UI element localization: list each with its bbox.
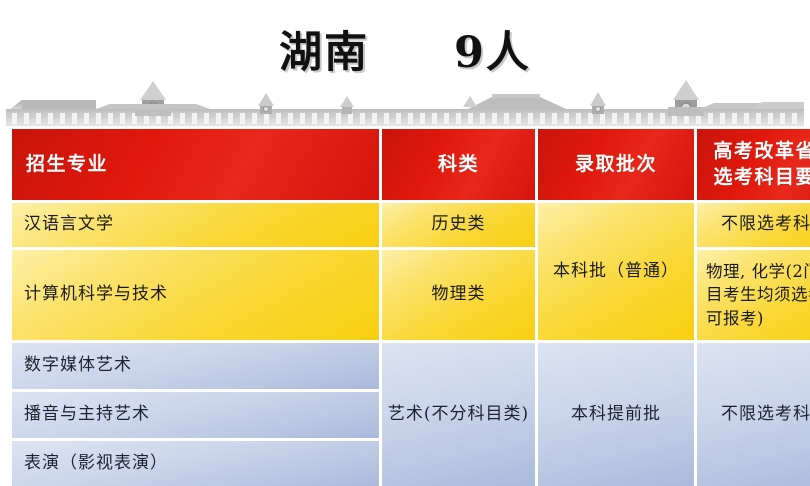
cell-category-2: 物理类 (381, 249, 536, 341)
admission-plan-table: 招生专业 科类 录取批次 高考改革省份 选考科目要求 招生计划 汉语言文学 历史… (10, 127, 810, 486)
column-header-category: 科类 (381, 128, 536, 201)
column-header-major: 招生专业 (11, 128, 380, 201)
cell-subject-requirement-2-text: 物理, 化学(2门科目考生均须选考方可报考) (697, 258, 810, 332)
column-header-subject-requirement-line2: 选考科目要求 (697, 165, 810, 190)
column-header-subject-requirement-line1: 高考改革省份 (697, 139, 810, 164)
table-row: 汉语言文学 历史类 本科批（普通） 不限选考科目 2 (11, 202, 810, 248)
cell-major-3: 数字媒体艺术 (11, 342, 380, 390)
cell-category-art: 艺术(不分科目类) (381, 342, 536, 486)
cell-batch-early-undergraduate: 本科提前批 (537, 342, 695, 486)
cell-major-2: 计算机科学与技术 (11, 249, 380, 341)
cell-subject-requirement-2: 物理, 化学(2门科目考生均须选考方可报考) (696, 249, 810, 341)
cell-subject-requirement-art: 不限选考科目 (696, 342, 810, 486)
column-header-batch: 录取批次 (537, 128, 695, 201)
column-header-subject-requirement: 高考改革省份 选考科目要求 (696, 128, 810, 201)
page-title: 湖南 9人 (0, 14, 810, 84)
campus-skyline-decoration (0, 78, 810, 128)
page-title-text: 湖南 9人 (279, 18, 531, 80)
slide-page: 湖南 9人 (0, 0, 810, 486)
cell-major-4: 播音与主持艺术 (11, 391, 380, 439)
cell-category-1: 历史类 (381, 202, 536, 248)
cell-batch-undergraduate-regular: 本科批（普通） (537, 202, 695, 341)
cell-major-5: 表演（影视表演） (11, 440, 380, 486)
table-row: 数字媒体艺术 艺术(不分科目类) 本科提前批 不限选考科目 3 (11, 342, 810, 390)
table-header-row: 招生专业 科类 录取批次 高考改革省份 选考科目要求 招生计划 (11, 128, 810, 201)
cell-subject-requirement-1: 不限选考科目 (696, 202, 810, 248)
cell-major-1: 汉语言文学 (11, 202, 380, 248)
